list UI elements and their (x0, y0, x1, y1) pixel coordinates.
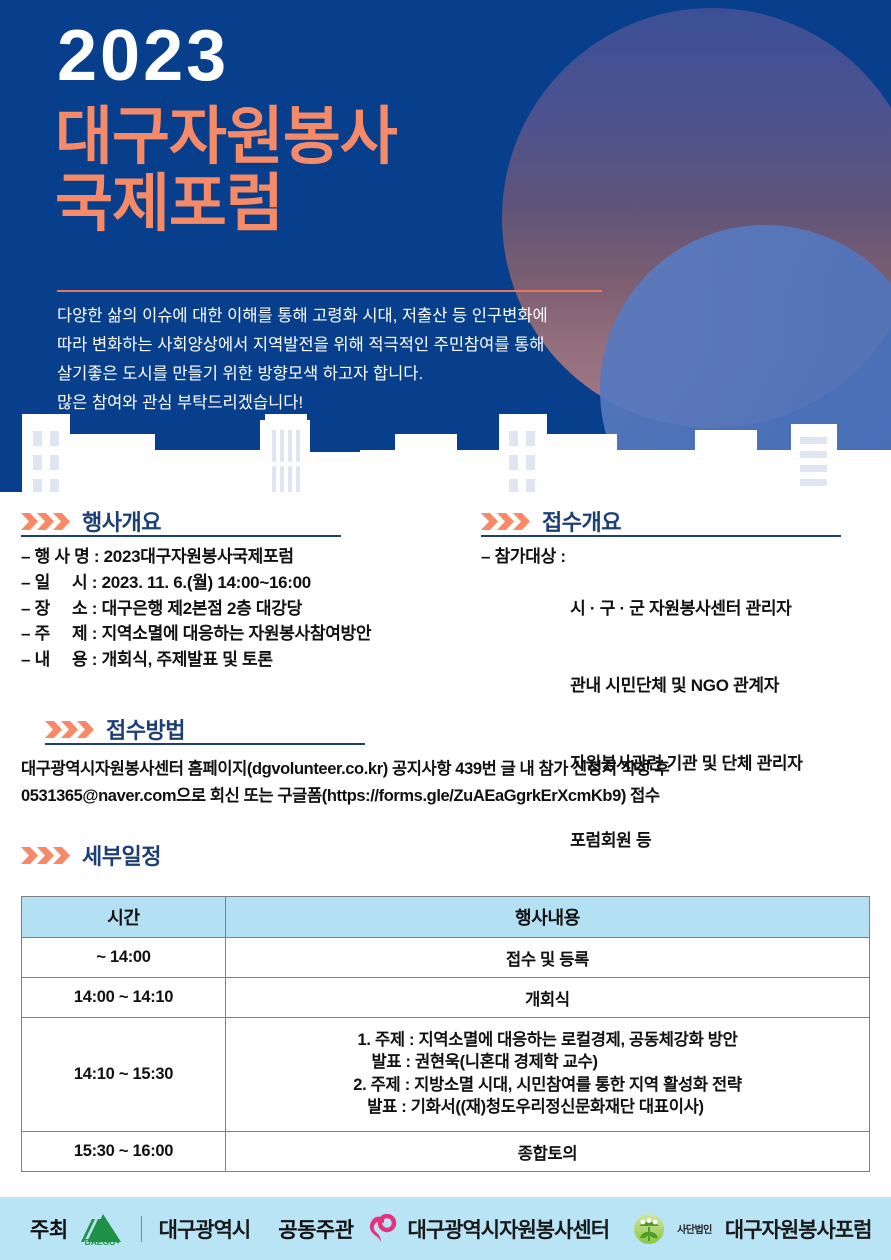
host-name: 대구광역시 (159, 1214, 251, 1244)
overview-item-value: 지역소멸에 대응하는 자원봉사참여방안 (102, 621, 372, 647)
overview-item-label: – 일 시 : (21, 570, 102, 596)
method-text: 대구광역시자원봉사센터 홈페이지(dgvolunteer.co.kr) 공지사항… (21, 756, 876, 809)
session-item: 1. 주제 : 지역소멸에 대응하는 로컬경제, 공동체강화 방안 발표 : 권… (358, 1029, 738, 1074)
registration-target-line: 관내 시민단체 및 NGO 관계자 (570, 673, 802, 699)
overview-item-label: – 주 제 : (21, 621, 102, 647)
overview-list: – 행 사 명 : 2023대구자원봉사국제포럼 – 일 시 : 2023. 1… (21, 544, 371, 673)
volunteer-heart-logo-icon (364, 1214, 398, 1244)
section-title-schedule: 세부일정 (82, 839, 161, 871)
overview-item-label: – 내 용 : (21, 647, 102, 673)
session-topic: 1. 주제 : 지역소멸에 대응하는 로컬경제, 공동체강화 방안 (358, 1031, 738, 1049)
cell-content: 접수 및 등록 (226, 938, 870, 978)
host-label: 주최 (30, 1214, 68, 1244)
cell-time: 14:00 ~ 14:10 (22, 978, 226, 1018)
table-row: 15:30 ~ 16:00 종합토의 (22, 1132, 870, 1172)
overview-item-label: – 장 소 : (21, 596, 102, 622)
table-row: 14:10 ~ 15:30 1. 주제 : 지역소멸에 대응하는 로컬경제, 공… (22, 1018, 870, 1132)
registration-target: – 참가대상 : 시 · 구 · 군 자원봉사센터 관리자 관내 시민단체 및 … (481, 544, 803, 906)
section-title-overview: 행사개요 (82, 505, 161, 537)
cell-time: 15:30 ~ 16:00 (22, 1132, 226, 1172)
schedule-table: 시간 행사내용 ~ 14:00 접수 및 등록 14:00 ~ 14:10 개회… (21, 896, 870, 1172)
section-title-registration: 접수개요 (542, 505, 621, 537)
overview-item: – 내 용 : 개회식, 주제발표 및 토론 (21, 647, 371, 673)
overview-item-value: 대구은행 제2본점 2층 대강당 (102, 596, 302, 622)
registration-target-label: – 참가대상 : (481, 544, 570, 906)
footer-divider (141, 1216, 142, 1242)
partner-prefix: 사단법인 (677, 1221, 712, 1236)
chevron-triple-icon (21, 846, 73, 865)
section-title-method: 접수방법 (106, 713, 185, 745)
cell-content: 종합토의 (226, 1132, 870, 1172)
daegu-city-logo-icon: DAEGU (78, 1212, 124, 1246)
section-header-method: 접수방법 (45, 713, 185, 745)
section-rule-method (45, 743, 365, 745)
overview-item-value: 2023. 11. 6.(월) 14:00~16:00 (102, 570, 311, 596)
title-divider (57, 290, 602, 292)
registration-target-line: 포럼회원 등 (570, 828, 802, 854)
poster-root: 2023 대구자원봉사 국제포럼 다양한 삶의 이슈에 대한 이해를 통해 고령… (0, 0, 891, 1260)
cell-time: 14:10 ~ 15:30 (22, 1018, 226, 1132)
session-topic: 2. 주제 : 지방소멸 시대, 시민참여를 통한 지역 활성화 전략 (353, 1076, 742, 1094)
section-header-schedule: 세부일정 (21, 839, 161, 871)
registration-target-line: 시 · 구 · 군 자원봉사센터 관리자 (570, 596, 802, 622)
overview-item-value: 개회식, 주제발표 및 토론 (102, 647, 273, 673)
hero-description: 다양한 삶의 이슈에 대한 이해를 통해 고령화 시대, 저출산 등 인구변화에… (57, 302, 657, 418)
table-row: ~ 14:00 접수 및 등록 (22, 938, 870, 978)
cell-sessions: 1. 주제 : 지역소멸에 대응하는 로컬경제, 공동체강화 방안 발표 : 권… (226, 1018, 870, 1132)
overview-item-value: 2023대구자원봉사국제포럼 (104, 544, 294, 570)
volunteer-forum-logo-icon (631, 1212, 667, 1246)
poster-title-line1: 대구자원봉사 (55, 104, 397, 171)
overview-item-label: – 행 사 명 : (21, 544, 104, 570)
section-header-overview: 행사개요 (21, 505, 161, 537)
chevron-triple-icon (481, 512, 533, 531)
section-rule-overview (21, 535, 341, 537)
hero-banner: 2023 대구자원봉사 국제포럼 다양한 삶의 이슈에 대한 이해를 통해 고령… (0, 0, 891, 492)
overview-item: – 행 사 명 : 2023대구자원봉사국제포럼 (21, 544, 371, 570)
overview-item: – 주 제 : 지역소멸에 대응하는 자원봉사참여방안 (21, 621, 371, 647)
poster-title: 대구자원봉사 국제포럼 (55, 104, 397, 238)
city-skyline-graphic (0, 406, 891, 492)
cell-content: 개회식 (226, 978, 870, 1018)
sponsor-footer: 주최 DAEGU 대구광역시 공동주관 대구광역시자원봉사센터 (0, 1197, 891, 1260)
section-header-registration: 접수개요 (481, 505, 621, 537)
session-speaker: 발표 : 기화서((재)청도우리정신문화재단 대표이사) (353, 1098, 703, 1116)
session-speaker: 발표 : 권현욱(니혼대 경제학 교수) (358, 1053, 598, 1071)
cohost-label: 공동주관 (278, 1214, 353, 1244)
table-header-row: 시간 행사내용 (22, 897, 870, 938)
column-header-content: 행사내용 (226, 897, 870, 938)
section-rule-registration (481, 535, 841, 537)
chevron-triple-icon (21, 512, 73, 531)
partner-name: 대구자원봉사포럼 (725, 1214, 872, 1244)
cohost-name: 대구광역시자원봉사센터 (408, 1214, 610, 1244)
column-header-time: 시간 (22, 897, 226, 938)
cell-time: ~ 14:00 (22, 938, 226, 978)
registration-target-values: 시 · 구 · 군 자원봉사센터 관리자 관내 시민단체 및 NGO 관계자 자… (570, 544, 802, 906)
table-row: 14:00 ~ 14:10 개회식 (22, 978, 870, 1018)
overview-item: – 장 소 : 대구은행 제2본점 2층 대강당 (21, 596, 371, 622)
daegu-logo-text: DAEGU (84, 1237, 115, 1246)
chevron-triple-icon (45, 720, 97, 739)
poster-year: 2023 (57, 22, 229, 90)
session-item: 2. 주제 : 지방소멸 시대, 시민참여를 통한 지역 활성화 전략 발표 :… (353, 1074, 742, 1119)
registration-list: – 참가대상 : 시 · 구 · 군 자원봉사센터 관리자 관내 시민단체 및 … (481, 544, 803, 936)
overview-item: – 일 시 : 2023. 11. 6.(월) 14:00~16:00 (21, 570, 371, 596)
poster-title-line2: 국제포럼 (55, 171, 397, 238)
